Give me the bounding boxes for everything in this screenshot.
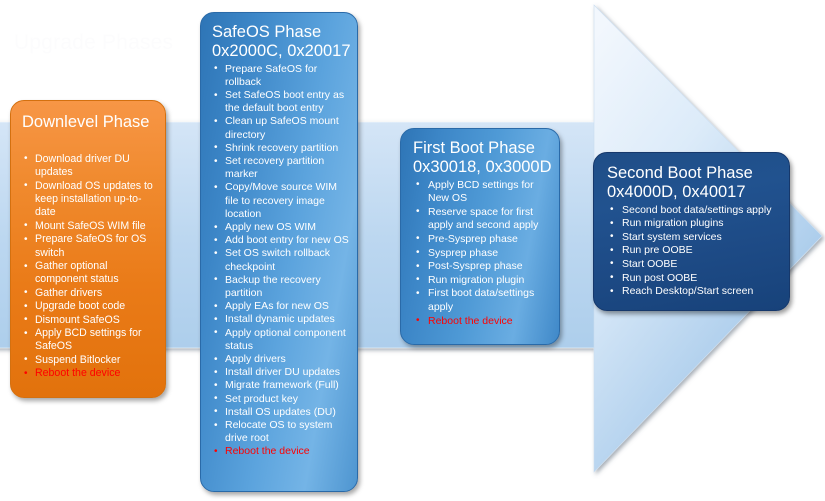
page-title: Upgrade Phases [14,31,173,55]
list-item: Migrate framework (Full) [212,379,350,392]
phase-card-safeos[interactable]: SafeOS Phase 0x2000C, 0x20017 Prepare Sa… [200,12,358,492]
list-item: Set recovery partition marker [212,155,350,181]
phase-item-list-safeos: Prepare SafeOS for rollback Set SafeOS b… [212,63,350,459]
list-item: Upgrade boot code [22,300,155,313]
list-item-reboot: Reboot the device [413,315,551,329]
list-item: Reach Desktop/Start screen [607,285,781,299]
list-item: Apply drivers [212,353,350,366]
phase-item-list-downlevel: Download driver DU updates Download OS u… [22,153,155,381]
list-item-reboot: Reboot the device [22,367,155,380]
list-item: Run migration plugin [413,274,551,288]
phase-card-second-boot[interactable]: Second Boot Phase 0x4000D, 0x40017 Secon… [593,152,790,311]
list-item: Backup the recovery partition [212,274,350,300]
phase-title-safeos: SafeOS Phase [212,23,350,42]
list-item: First boot data/settings apply [413,287,551,314]
list-item: Pre-Sysprep phase [413,233,551,247]
list-item: Apply BCD settings for New OS [413,179,551,206]
list-item-reboot: Reboot the device [212,445,350,458]
phase-code-first-boot: 0x30018, 0x3000D [413,158,551,177]
list-item: Add boot entry for new OS [212,234,350,247]
list-item: Run migration plugins [607,217,781,231]
list-item: Prepare SafeOS for rollback [212,63,350,89]
list-item: Apply BCD settings for SafeOS [22,327,155,354]
phase-title-downlevel: Downlevel Phase [22,113,155,132]
list-item: Copy/Move source WIM file to recovery im… [212,181,350,221]
list-item: Gather optional component status [22,260,155,287]
list-item: Second boot data/settings apply [607,204,781,218]
list-item: Install driver DU updates [212,366,350,379]
list-item: Sysprep phase [413,247,551,261]
list-item: Install OS updates (DU) [212,406,350,419]
list-item: Relocate OS to system drive root [212,419,350,445]
list-item: Set product key [212,393,350,406]
phase-title-first-boot: First Boot Phase [413,139,551,158]
list-item: Apply EAs for new OS [212,300,350,313]
list-item: Suspend Bitlocker [22,354,155,367]
list-item: Set OS switch rollback checkpoint [212,247,350,273]
list-item: Mount SafeOS WIM file [22,220,155,233]
list-item: Download OS updates to keep installation… [22,180,155,220]
list-item: Dismount SafeOS [22,314,155,327]
list-item: Prepare SafeOS for OS switch [22,233,155,260]
list-item: Reserve space for first apply and second… [413,206,551,233]
list-item: Gather drivers [22,287,155,300]
list-item: Apply new OS WIM [212,221,350,234]
list-item: Apply optional component status [212,327,350,353]
phase-card-downlevel[interactable]: Downlevel Phase Download driver DU updat… [10,100,166,398]
phase-card-first-boot[interactable]: First Boot Phase 0x30018, 0x3000D Apply … [400,128,560,345]
phase-code-second-boot: 0x4000D, 0x40017 [607,183,781,202]
phase-item-list-second-boot: Second boot data/settings apply Run migr… [607,204,781,299]
phase-code-safeos: 0x2000C, 0x20017 [212,42,350,61]
upgrade-phases-diagram: Upgrade Phases Downlevel Phase Download … [0,0,825,501]
phase-item-list-first-boot: Apply BCD settings for New OS Reserve sp… [413,179,551,329]
list-item: Run pre OOBE [607,244,781,258]
list-item: Set SafeOS boot entry as the default boo… [212,89,350,115]
list-item: Start OOBE [607,258,781,272]
list-item: Install dynamic updates [212,313,350,326]
list-item: Run post OOBE [607,272,781,286]
phase-title-second-boot: Second Boot Phase [607,164,781,183]
list-item: Download driver DU updates [22,153,155,180]
list-item: Start system services [607,231,781,245]
list-item: Post-Sysprep phase [413,260,551,274]
list-item: Clean up SafeOS mount directory [212,115,350,141]
list-item: Shrink recovery partition [212,142,350,155]
